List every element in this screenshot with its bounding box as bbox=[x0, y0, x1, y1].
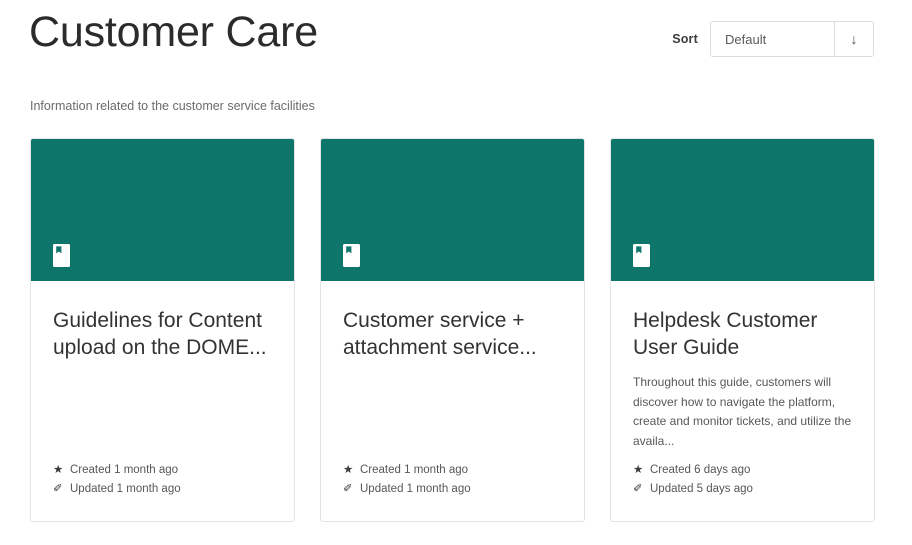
card-updated-text: Updated 1 month ago bbox=[70, 480, 181, 499]
card-title: Customer service + attachment service... bbox=[343, 307, 562, 361]
content-card[interactable]: Guidelines for Content upload on the DOM… bbox=[30, 138, 295, 522]
sort-control: Default ↓ bbox=[710, 21, 874, 57]
content-card[interactable]: Customer service + attachment service...… bbox=[320, 138, 585, 522]
sort-direction-button[interactable]: ↓ bbox=[834, 22, 873, 56]
card-body: Helpdesk Customer User Guide Throughout … bbox=[611, 281, 874, 521]
card-created-row: ★ Created 1 month ago bbox=[53, 461, 272, 480]
card-banner bbox=[31, 139, 294, 281]
card-created-text: Created 1 month ago bbox=[360, 461, 468, 480]
card-meta: ★ Created 1 month ago ✐ Updated 1 month … bbox=[343, 461, 562, 521]
card-title: Guidelines for Content upload on the DOM… bbox=[53, 307, 272, 361]
card-meta: ★ Created 1 month ago ✐ Updated 1 month … bbox=[53, 461, 272, 521]
pencil-icon: ✐ bbox=[53, 480, 70, 499]
sort-area: Sort Default ↓ bbox=[672, 21, 874, 57]
bookmark-page-icon bbox=[343, 244, 360, 267]
card-meta: ★ Created 6 days ago ✐ Updated 5 days ag… bbox=[633, 461, 852, 521]
page-subtitle: Information related to the customer serv… bbox=[30, 99, 315, 113]
card-created-row: ★ Created 1 month ago bbox=[343, 461, 562, 480]
card-body: Guidelines for Content upload on the DOM… bbox=[31, 281, 294, 521]
arrow-down-icon: ↓ bbox=[851, 32, 858, 46]
star-icon: ★ bbox=[633, 461, 650, 480]
page-header: Customer Care Information related to the… bbox=[0, 0, 912, 90]
star-icon: ★ bbox=[343, 461, 360, 480]
card-created-text: Created 1 month ago bbox=[70, 461, 178, 480]
card-grid: Guidelines for Content upload on the DOM… bbox=[30, 138, 882, 522]
card-updated-text: Updated 1 month ago bbox=[360, 480, 471, 499]
card-updated-row: ✐ Updated 1 month ago bbox=[53, 480, 272, 499]
pencil-icon: ✐ bbox=[633, 480, 650, 499]
card-title: Helpdesk Customer User Guide bbox=[633, 307, 852, 361]
card-created-text: Created 6 days ago bbox=[650, 461, 750, 480]
card-updated-row: ✐ Updated 1 month ago bbox=[343, 480, 562, 499]
sort-select[interactable]: Default bbox=[711, 22, 834, 56]
star-icon: ★ bbox=[53, 461, 70, 480]
content-card[interactable]: Helpdesk Customer User Guide Throughout … bbox=[610, 138, 875, 522]
sort-label: Sort bbox=[672, 32, 698, 46]
pencil-icon: ✐ bbox=[343, 480, 360, 499]
card-updated-row: ✐ Updated 5 days ago bbox=[633, 480, 852, 499]
bookmark-page-icon bbox=[633, 244, 650, 267]
card-banner bbox=[321, 139, 584, 281]
page-title: Customer Care bbox=[29, 8, 318, 57]
bookmark-page-icon bbox=[53, 244, 70, 267]
card-created-row: ★ Created 6 days ago bbox=[633, 461, 852, 480]
card-updated-text: Updated 5 days ago bbox=[650, 480, 753, 499]
card-body: Customer service + attachment service...… bbox=[321, 281, 584, 521]
card-banner bbox=[611, 139, 874, 281]
card-description: Throughout this guide, customers will di… bbox=[633, 373, 852, 451]
